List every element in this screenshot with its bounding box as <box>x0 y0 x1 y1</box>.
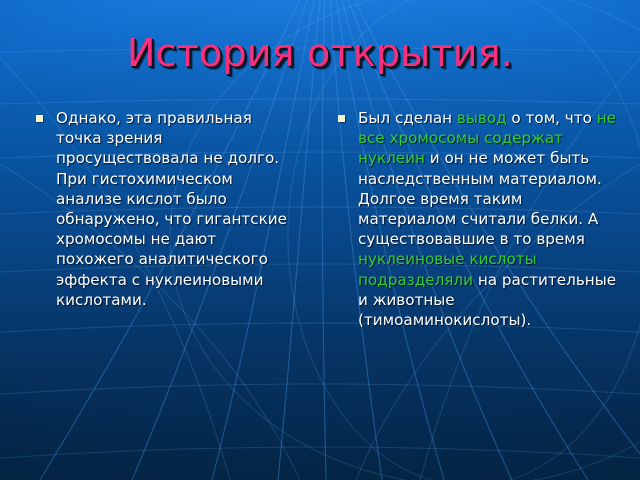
bullet-text: Был сделан вывод о том, что не все хромо… <box>358 108 622 330</box>
bullet-item: Однако, эта правильная точка зрения прос… <box>36 108 298 310</box>
bullet-item: Был сделан вывод о том, что не все хромо… <box>338 108 622 330</box>
slide-body: Однако, эта правильная точка зрения прос… <box>0 108 640 330</box>
presentation-slide: История открытия. Однако, эта правильная… <box>0 0 640 480</box>
content-column-right: Был сделан вывод о том, что не все хромо… <box>320 108 640 330</box>
bullet-square-icon <box>36 115 43 122</box>
bullet-text: Однако, эта правильная точка зрения прос… <box>56 108 298 310</box>
highlighted-term: нуклеиновые кислоты подразделяли <box>358 250 537 288</box>
highlighted-term: вывод <box>457 109 507 127</box>
bullet-square-icon <box>338 115 345 122</box>
content-column-left: Однако, эта правильная точка зрения прос… <box>0 108 320 330</box>
slide-title: История открытия. <box>0 30 640 76</box>
